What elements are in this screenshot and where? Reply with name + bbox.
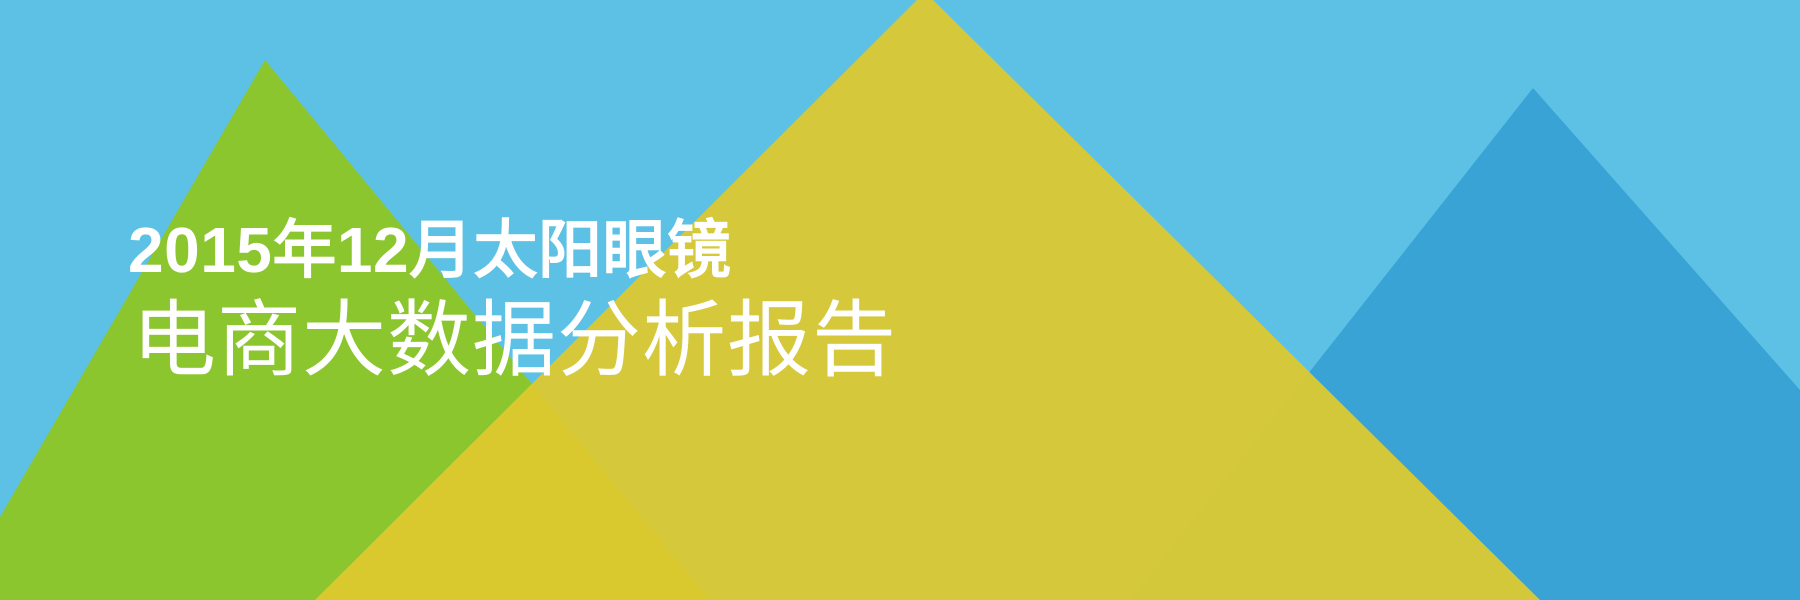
report-cover-banner: 2015年12月太阳眼镜 电商大数据分析报告: [0, 0, 1800, 600]
decorative-mountain-shapes: [0, 0, 1800, 600]
